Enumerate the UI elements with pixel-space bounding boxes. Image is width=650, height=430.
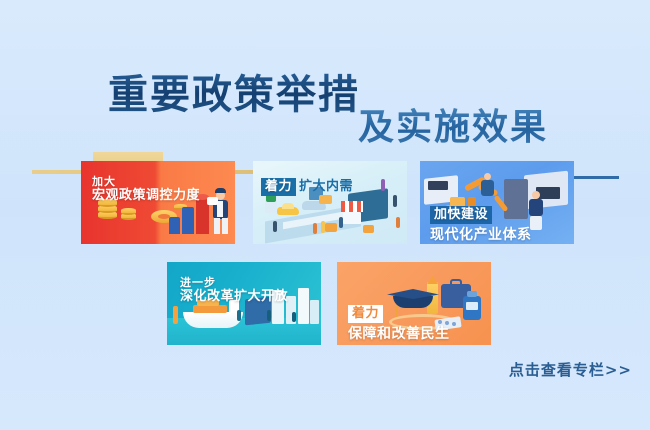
ship-container-icon (193, 305, 227, 313)
person-figure-icon (237, 310, 241, 321)
worker-head-icon (532, 191, 540, 199)
policy-card-improve-livelihood[interactable]: 着力 保障和改善民生 (337, 262, 491, 345)
person-figure-icon (267, 310, 271, 321)
person-figure-icon (321, 221, 325, 233)
briefcase-handle-icon (450, 279, 462, 286)
card-2-label-line-1: 着力 (261, 178, 296, 196)
policy-card-modern-industrial-system[interactable]: 加快建设 现代化产业体系 (420, 161, 574, 244)
card-5-label-line-1: 着力 (348, 302, 450, 323)
car-roof-icon (282, 203, 294, 209)
cargo-ship-icon (183, 312, 243, 328)
coin-icon (121, 208, 136, 215)
card-3-label-line-2: 现代化产业体系 (430, 227, 532, 244)
page-title-line-1: 重要政策举措 (108, 62, 360, 120)
person-leg-icon (222, 218, 228, 234)
card-1-label-line-2: 宏观政策调控力度 (92, 188, 200, 204)
card-1-label-line-1: 加大 (92, 175, 200, 188)
store-front-icon (343, 212, 361, 224)
card-4-label-line-2: 深化改革扩大开放 (180, 289, 288, 305)
policy-card-macro-regulation[interactable]: 加大 宏观政策调控力度 (81, 161, 235, 244)
medicine-bottle-cap-icon (467, 291, 477, 297)
parcel-box-icon (363, 225, 374, 233)
person-figure-icon (396, 217, 400, 228)
port-tower-icon (310, 300, 319, 324)
card-3-label: 加快建设 现代化产业体系 (430, 203, 532, 244)
card-4-label: 进一步 深化改革扩大开放 (180, 276, 288, 305)
person-leg-icon (214, 218, 220, 234)
card-5-label: 着力 保障和改善民生 (348, 302, 450, 343)
person-figure-icon (393, 195, 397, 207)
worker-body-icon (481, 180, 494, 196)
pencil-tip-icon (427, 276, 438, 284)
bar-chart-bar (169, 217, 180, 234)
card-1-label: 加大 宏观政策调控力度 (92, 175, 200, 204)
policy-card-deepen-reform-opening-up[interactable]: 进一步 深化改革扩大开放 (167, 262, 321, 345)
card-2-label-line-2: 扩大内需 (299, 179, 353, 194)
person-figure-icon (273, 221, 277, 232)
bar-chart-bar (182, 207, 194, 234)
person-clipboard-icon (207, 197, 218, 205)
parcel-box-icon (325, 223, 337, 232)
person-figure-icon (339, 217, 343, 228)
medicine-bottle-label-icon (466, 302, 478, 310)
dock-post-icon (173, 306, 178, 324)
worker-head-icon (484, 173, 491, 180)
port-tower-icon (298, 288, 309, 324)
person-figure-icon (381, 179, 385, 191)
banner-title-block: 重要政策举措 及实施效果 (0, 56, 650, 151)
policy-banner: 重要政策举措 及实施效果 加大 宏观政策调控力度 (0, 0, 650, 430)
person-hair-icon (215, 188, 226, 193)
machine-screen-icon (428, 181, 448, 190)
card-4-label-line-1: 进一步 (180, 276, 288, 289)
view-column-link[interactable]: 点击查看专栏>> (509, 359, 632, 380)
store-awning-icon (341, 201, 363, 212)
person-figure-icon (292, 312, 296, 322)
card-2-label: 着力扩大内需 (261, 175, 353, 196)
card-3-label-line-1: 加快建设 (430, 203, 532, 224)
page-title-line-2: 及实施效果 (358, 98, 548, 150)
policy-card-expand-domestic-demand[interactable]: 着力扩大内需 (253, 161, 407, 244)
person-figure-icon (313, 223, 317, 234)
card-5-label-line-2: 保障和改善民生 (348, 326, 450, 343)
parcel-box-icon (319, 195, 332, 204)
